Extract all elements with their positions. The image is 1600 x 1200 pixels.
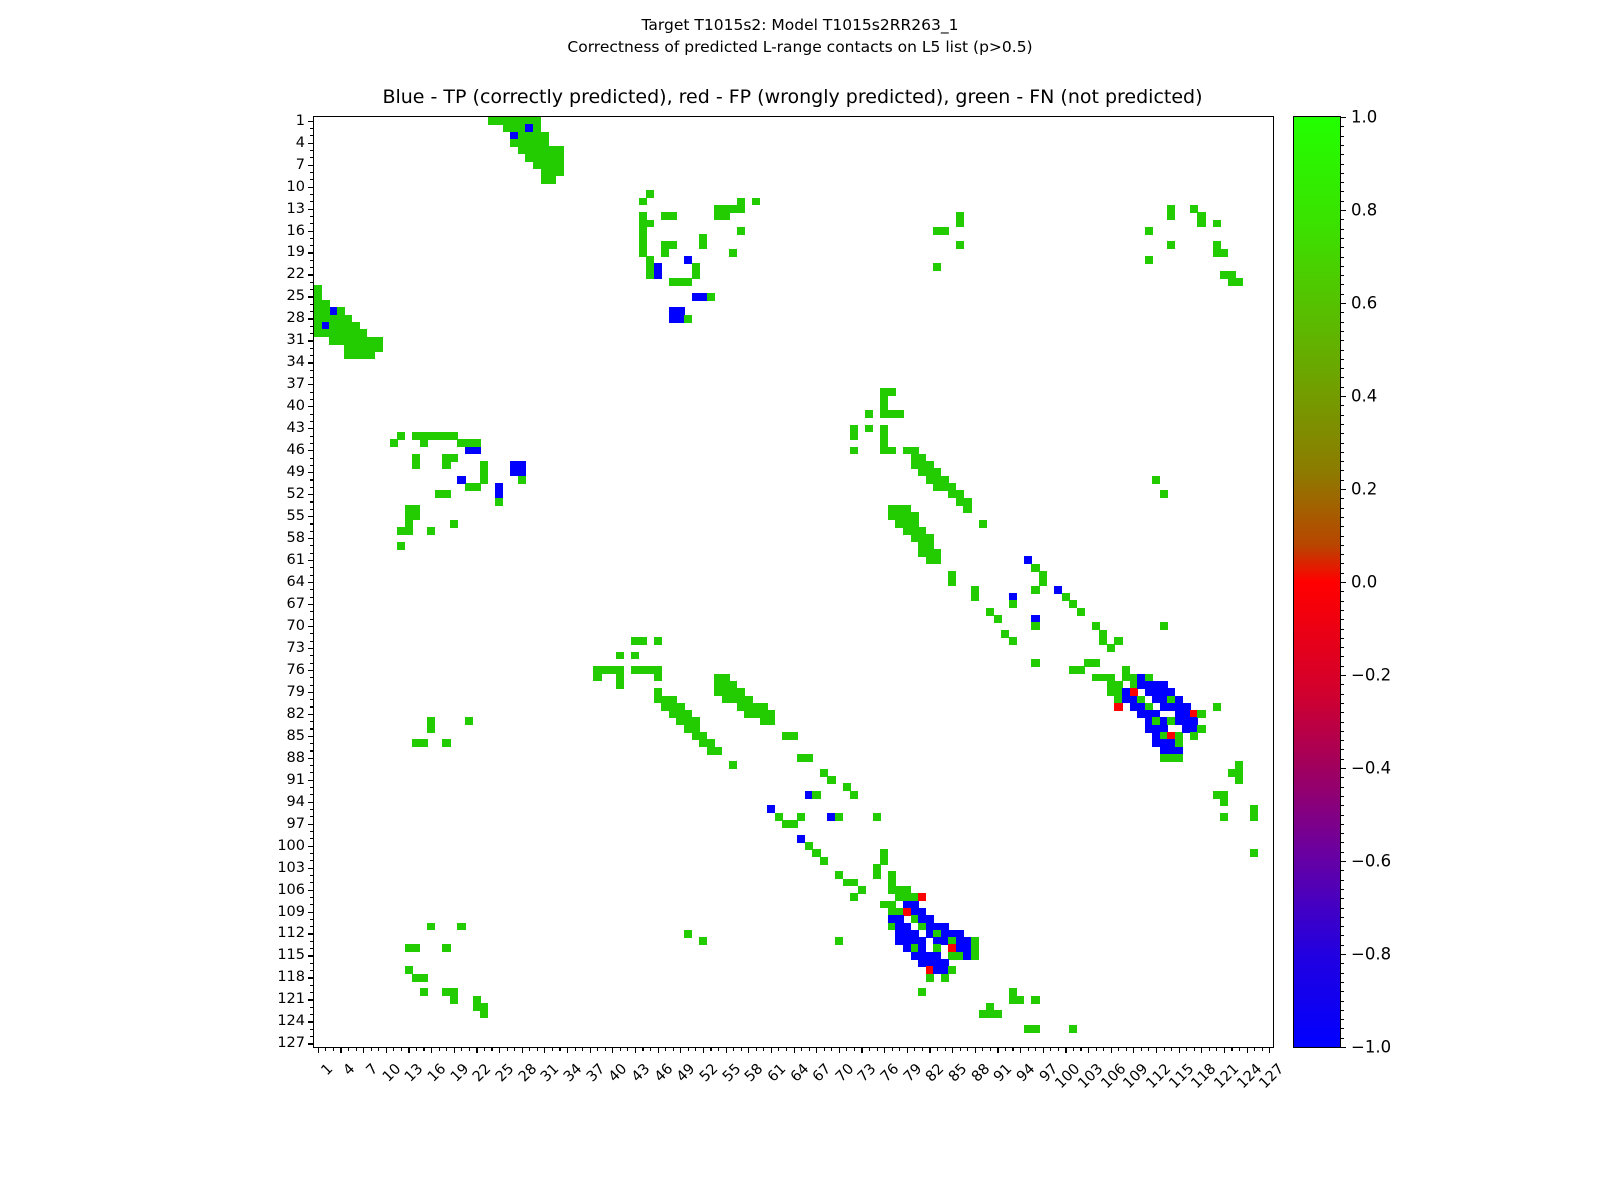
contact-cell: [1250, 849, 1258, 857]
x-tick-mark: [673, 1047, 674, 1051]
colorbar-minor-tick: [1340, 973, 1344, 974]
x-tick-label: 28: [516, 1061, 540, 1085]
y-tick-mark: [310, 772, 314, 773]
contact-cell: [895, 410, 903, 418]
contact-cell: [639, 637, 647, 645]
x-tick-label: 25: [493, 1061, 517, 1085]
x-tick-mark: [680, 1047, 681, 1053]
colorbar-minor-tick: [1340, 563, 1344, 564]
x-tick-mark: [1103, 1047, 1104, 1051]
contact-cell: [390, 439, 398, 447]
suptitle-line-2: Correctness of predicted L-range contact…: [567, 38, 1032, 56]
y-tick-mark: [310, 970, 314, 971]
y-tick-mark: [310, 501, 314, 502]
contact-cell: [865, 425, 873, 433]
x-tick-mark: [1231, 1047, 1232, 1051]
colorbar-minor-tick: [1340, 136, 1344, 137]
contact-cell: [480, 476, 488, 484]
x-tick-mark: [522, 1047, 523, 1053]
colorbar-minor-tick: [1340, 833, 1344, 834]
colorbar-minor-tick: [1340, 322, 1344, 323]
y-tick-mark: [310, 311, 314, 312]
x-tick-mark: [1028, 1047, 1029, 1051]
x-tick-mark: [582, 1047, 583, 1051]
contact-cell: [450, 454, 458, 462]
y-tick-label: 76: [287, 662, 305, 678]
x-tick-mark: [1096, 1047, 1097, 1051]
colorbar-minor-tick: [1340, 173, 1344, 174]
contact-cell: [669, 241, 677, 249]
x-tick-mark: [1050, 1047, 1051, 1051]
contact-cell: [405, 527, 413, 535]
y-tick-mark: [310, 567, 314, 568]
x-tick-label: 52: [697, 1061, 721, 1085]
colorbar-minor-tick: [1340, 266, 1344, 267]
colorbar-minor-tick: [1340, 377, 1344, 378]
y-tick-mark: [310, 304, 314, 305]
x-tick-mark: [1254, 1047, 1255, 1051]
contact-cell: [1069, 1025, 1077, 1033]
contact-cell: [676, 278, 684, 286]
colorbar-minor-tick: [1340, 480, 1344, 481]
contact-cell: [865, 410, 873, 418]
x-tick-mark: [499, 1047, 500, 1053]
colorbar-tick-label: 0.8: [1351, 201, 1377, 220]
contact-cell: [639, 198, 647, 206]
y-tick-mark: [310, 963, 314, 964]
contact-cell: [1160, 490, 1168, 498]
x-tick-mark: [967, 1047, 968, 1051]
colorbar-minor-tick: [1340, 917, 1344, 918]
y-tick-mark: [310, 721, 314, 722]
y-tick-mark: [310, 267, 314, 268]
colorbar-tick-label: −0.8: [1351, 945, 1391, 964]
y-tick-label: 112: [277, 925, 305, 941]
colorbar-tick-mark: [1340, 582, 1346, 583]
y-tick-mark: [308, 933, 314, 934]
y-tick-mark: [310, 458, 314, 459]
colorbar-tick-label: 0.6: [1351, 294, 1377, 313]
x-tick-mark: [1224, 1047, 1225, 1053]
colorbar-minor-tick: [1340, 573, 1344, 574]
y-tick-mark: [310, 326, 314, 327]
contact-cell: [714, 747, 722, 755]
y-tick-mark: [308, 846, 314, 847]
contact-cell: [646, 220, 654, 228]
x-tick-mark: [1156, 1047, 1157, 1053]
contact-cell: [1031, 622, 1039, 630]
y-tick-mark: [310, 838, 314, 839]
colorbar-minor-tick: [1340, 656, 1344, 657]
contact-cell: [1092, 659, 1100, 667]
contact-cell: [888, 388, 896, 396]
y-tick-label: 82: [287, 706, 305, 722]
y-tick-mark: [310, 575, 314, 576]
contact-cell: [699, 241, 707, 249]
contact-cell: [1107, 644, 1115, 652]
contact-cell: [956, 241, 964, 249]
y-tick-mark: [310, 1007, 314, 1008]
y-tick-label: 58: [287, 530, 305, 546]
contact-cell: [1009, 600, 1017, 608]
y-tick-mark: [310, 743, 314, 744]
y-tick-mark: [310, 245, 314, 246]
colorbar-tick-mark: [1340, 675, 1346, 676]
colorbar-minor-tick: [1340, 852, 1344, 853]
contact-cell: [820, 857, 828, 865]
colorbar-minor-tick: [1340, 982, 1344, 983]
x-tick-label: 70: [833, 1061, 857, 1085]
contact-cell: [427, 725, 435, 733]
y-tick-mark: [310, 282, 314, 283]
colorbar-minor-tick: [1340, 368, 1344, 369]
x-tick-mark: [1262, 1047, 1263, 1051]
y-tick-mark: [310, 487, 314, 488]
x-tick-mark: [416, 1047, 417, 1051]
contact-cell: [412, 461, 420, 469]
y-tick-mark: [310, 663, 314, 664]
colorbar[interactable]: 1.00.80.60.40.20.0−0.2−0.4−0.6−0.8−1.0: [1293, 116, 1341, 1048]
colorbar-minor-tick: [1340, 796, 1344, 797]
x-tick-mark: [507, 1047, 508, 1051]
y-tick-mark: [308, 1043, 314, 1044]
x-tick-label: 37: [584, 1061, 608, 1085]
y-tick-label: 37: [287, 376, 305, 392]
contact-cell: [888, 447, 896, 455]
y-tick-label: 100: [277, 838, 305, 854]
x-tick-mark: [1201, 1047, 1202, 1053]
y-tick-label: 88: [287, 750, 305, 766]
x-tick-mark: [748, 1047, 749, 1053]
contact-cell: [1114, 637, 1122, 645]
y-tick-mark: [310, 633, 314, 634]
contact-cell: [420, 739, 428, 747]
y-tick-mark: [310, 655, 314, 656]
y-tick-label: 49: [287, 464, 305, 480]
y-tick-mark: [308, 450, 314, 451]
contact-cell: [412, 944, 420, 952]
y-tick-mark: [310, 1029, 314, 1030]
colorbar-minor-tick: [1340, 461, 1344, 462]
x-tick-mark: [658, 1047, 659, 1053]
contact-cell: [926, 974, 934, 982]
x-tick-label: 73: [855, 1061, 879, 1085]
x-tick-mark: [635, 1047, 636, 1053]
x-tick-mark: [1194, 1047, 1195, 1051]
x-tick-mark: [597, 1047, 598, 1051]
y-tick-mark: [308, 890, 314, 891]
y-tick-mark: [310, 853, 314, 854]
colorbar-minor-tick: [1340, 1028, 1344, 1029]
y-tick-mark: [310, 860, 314, 861]
contact-map-grid: [314, 117, 1273, 1047]
y-tick-mark: [308, 582, 314, 583]
x-tick-mark: [824, 1047, 825, 1051]
y-tick-mark: [308, 428, 314, 429]
y-tick-mark: [310, 465, 314, 466]
x-tick-label: 46: [652, 1061, 676, 1085]
x-tick-mark: [1111, 1047, 1112, 1053]
contact-cell: [858, 886, 866, 894]
x-tick-mark: [1148, 1047, 1149, 1051]
colorbar-minor-tick: [1340, 201, 1344, 202]
colorbar-minor-tick: [1340, 219, 1344, 220]
y-tick-label: 55: [287, 508, 305, 524]
y-tick-mark: [308, 165, 314, 166]
x-tick-label: 58: [742, 1061, 766, 1085]
contact-cell: [1077, 608, 1085, 616]
x-tick-mark: [529, 1047, 530, 1051]
x-tick-mark: [1179, 1047, 1180, 1053]
x-tick-mark: [907, 1047, 908, 1053]
y-tick-label: 127: [277, 1035, 305, 1051]
y-tick-mark: [308, 648, 314, 649]
contact-map-axes[interactable]: 1471013161922252831343740434649525558616…: [313, 116, 1274, 1048]
contact-cell: [737, 205, 745, 213]
contact-cell: [1197, 710, 1205, 718]
colorbar-minor-tick: [1340, 619, 1344, 620]
x-tick-label: 1: [318, 1061, 336, 1079]
y-tick-mark: [310, 479, 314, 480]
y-tick-mark: [310, 985, 314, 986]
colorbar-minor-tick: [1340, 991, 1344, 992]
y-tick-label: 85: [287, 728, 305, 744]
y-tick-label: 7: [296, 157, 305, 173]
contact-cell: [1220, 798, 1228, 806]
contact-cell: [473, 483, 481, 491]
x-tick-label: 31: [538, 1061, 562, 1085]
y-tick-mark: [308, 209, 314, 210]
colorbar-minor-tick: [1340, 554, 1344, 555]
y-tick-mark: [310, 816, 314, 817]
colorbar-minor-tick: [1340, 666, 1344, 667]
contact-cell: [465, 717, 473, 725]
y-tick-mark: [310, 875, 314, 876]
y-tick-mark: [308, 472, 314, 473]
y-tick-label: 1: [296, 113, 305, 129]
contact-cell: [722, 212, 730, 220]
contact-cell: [873, 813, 881, 821]
colorbar-minor-tick: [1340, 536, 1344, 537]
x-tick-mark: [937, 1047, 938, 1051]
colorbar-minor-tick: [1340, 526, 1344, 527]
colorbar-minor-tick: [1340, 433, 1344, 434]
colorbar-minor-tick: [1340, 591, 1344, 592]
x-tick-mark: [710, 1047, 711, 1051]
x-tick-mark: [514, 1047, 515, 1051]
y-tick-mark: [308, 758, 314, 759]
x-tick-label: 7: [364, 1061, 382, 1079]
x-tick-mark: [620, 1047, 621, 1051]
y-tick-mark: [308, 121, 314, 122]
contact-cell: [692, 271, 700, 279]
x-tick-mark: [786, 1047, 787, 1051]
colorbar-minor-tick: [1340, 331, 1344, 332]
y-tick-mark: [310, 545, 314, 546]
y-tick-mark: [310, 377, 314, 378]
contact-cell: [442, 944, 450, 952]
x-tick-mark: [854, 1047, 855, 1051]
y-tick-mark: [308, 780, 314, 781]
x-tick-mark: [340, 1047, 341, 1053]
contact-cell: [412, 505, 420, 513]
colorbar-minor-tick: [1340, 238, 1344, 239]
x-tick-label: 64: [787, 1061, 811, 1085]
x-tick-mark: [839, 1047, 840, 1053]
y-tick-label: 91: [287, 772, 305, 788]
y-tick-label: 124: [277, 1013, 305, 1029]
y-tick-mark: [308, 1021, 314, 1022]
colorbar-minor-tick: [1340, 842, 1344, 843]
contact-cell: [1220, 249, 1228, 257]
y-tick-mark: [310, 201, 314, 202]
colorbar-minor-tick: [1340, 722, 1344, 723]
y-tick-label: 25: [287, 288, 305, 304]
colorbar-tick-mark: [1340, 489, 1346, 490]
x-tick-label: 85: [946, 1061, 970, 1085]
x-tick-mark: [446, 1047, 447, 1051]
y-tick-label: 10: [287, 179, 305, 195]
colorbar-minor-tick: [1340, 629, 1344, 630]
x-tick-mark: [363, 1047, 364, 1053]
y-tick-mark: [310, 531, 314, 532]
colorbar-minor-tick: [1340, 275, 1344, 276]
y-tick-mark: [308, 231, 314, 232]
colorbar-minor-tick: [1340, 880, 1344, 881]
colorbar-minor-tick: [1340, 908, 1344, 909]
y-tick-mark: [310, 611, 314, 612]
x-tick-mark: [990, 1047, 991, 1051]
contact-cell: [1152, 476, 1160, 484]
contact-cell: [1031, 586, 1039, 594]
contact-cell: [979, 520, 987, 528]
contact-cell: [835, 813, 843, 821]
contact-cell: [1031, 659, 1039, 667]
y-tick-mark: [308, 736, 314, 737]
y-tick-mark: [310, 179, 314, 180]
x-tick-mark: [718, 1047, 719, 1051]
colorbar-minor-tick: [1340, 1019, 1344, 1020]
x-tick-mark: [552, 1047, 553, 1051]
y-tick-mark: [310, 399, 314, 400]
contact-cell: [556, 168, 564, 176]
contact-cell: [548, 176, 556, 184]
contact-cell: [1167, 212, 1175, 220]
colorbar-minor-tick: [1340, 284, 1344, 285]
x-tick-mark: [1035, 1047, 1036, 1051]
y-tick-mark: [308, 274, 314, 275]
y-tick-mark: [308, 802, 314, 803]
x-tick-mark: [771, 1047, 772, 1053]
x-tick-mark: [1088, 1047, 1089, 1053]
x-tick-mark: [431, 1047, 432, 1053]
x-tick-label: 49: [674, 1061, 698, 1085]
contact-map-figure: Target T1015s2: Model T1015s2RR263_1 Cor…: [0, 0, 1600, 1200]
colorbar-minor-tick: [1340, 145, 1344, 146]
colorbar-minor-tick: [1340, 824, 1344, 825]
x-tick-mark: [1247, 1047, 1248, 1053]
contact-cell: [450, 520, 458, 528]
y-tick-mark: [308, 670, 314, 671]
y-tick-mark: [310, 619, 314, 620]
y-tick-label: 16: [287, 223, 305, 239]
colorbar-minor-tick: [1340, 387, 1344, 388]
contact-cell: [850, 447, 858, 455]
x-tick-mark: [763, 1047, 764, 1051]
y-tick-mark: [308, 516, 314, 517]
x-tick-mark: [1012, 1047, 1013, 1051]
y-tick-label: 4: [296, 135, 305, 151]
x-tick-mark: [590, 1047, 591, 1053]
y-tick-mark: [310, 794, 314, 795]
x-tick-mark: [801, 1047, 802, 1051]
y-tick-mark: [310, 238, 314, 239]
y-tick-mark: [308, 362, 314, 363]
y-tick-label: 109: [277, 904, 305, 920]
y-tick-mark: [308, 143, 314, 144]
contact-cell: [1031, 1025, 1039, 1033]
colorbar-minor-tick: [1340, 889, 1344, 890]
y-tick-mark: [308, 999, 314, 1000]
contact-cell: [397, 432, 405, 440]
y-tick-mark: [310, 289, 314, 290]
x-tick-mark: [386, 1047, 387, 1053]
y-tick-label: 67: [287, 596, 305, 612]
x-tick-label: 13: [402, 1061, 426, 1085]
colorbar-minor-tick: [1340, 684, 1344, 685]
x-tick-mark: [612, 1047, 613, 1053]
x-tick-mark: [869, 1047, 870, 1051]
contact-cell: [752, 198, 760, 206]
contact-cell: [737, 227, 745, 235]
y-tick-mark: [310, 523, 314, 524]
contact-cell: [420, 988, 428, 996]
contact-cell: [1130, 688, 1138, 696]
y-tick-mark: [310, 728, 314, 729]
x-tick-label: 19: [448, 1061, 472, 1085]
y-tick-mark: [310, 904, 314, 905]
contact-cell: [941, 974, 949, 982]
y-tick-mark: [308, 252, 314, 253]
contact-cell: [457, 923, 465, 931]
x-tick-mark: [393, 1047, 394, 1051]
y-tick-mark: [310, 597, 314, 598]
y-tick-mark: [310, 260, 314, 261]
contact-cell: [933, 556, 941, 564]
contact-cell: [1145, 227, 1153, 235]
contact-cell: [850, 791, 858, 799]
y-tick-mark: [310, 699, 314, 700]
y-tick-mark: [308, 538, 314, 539]
y-tick-mark: [310, 436, 314, 437]
colorbar-tick-mark: [1340, 303, 1346, 304]
contact-cell: [797, 813, 805, 821]
contact-cell: [374, 344, 382, 352]
contact-cell: [956, 220, 964, 228]
x-tick-mark: [544, 1047, 545, 1053]
contact-cell: [654, 637, 662, 645]
y-tick-mark: [310, 172, 314, 173]
y-tick-label: 103: [277, 860, 305, 876]
contact-cell: [850, 893, 858, 901]
x-tick-mark: [1164, 1047, 1165, 1051]
y-tick-mark: [310, 355, 314, 356]
figure-suptitle: Target T1015s2: Model T1015s2RR263_1 Cor…: [0, 14, 1600, 59]
y-tick-label: 106: [277, 882, 305, 898]
colorbar-tick-mark: [1340, 396, 1346, 397]
y-tick-mark: [308, 296, 314, 297]
colorbar-minor-tick: [1340, 898, 1344, 899]
